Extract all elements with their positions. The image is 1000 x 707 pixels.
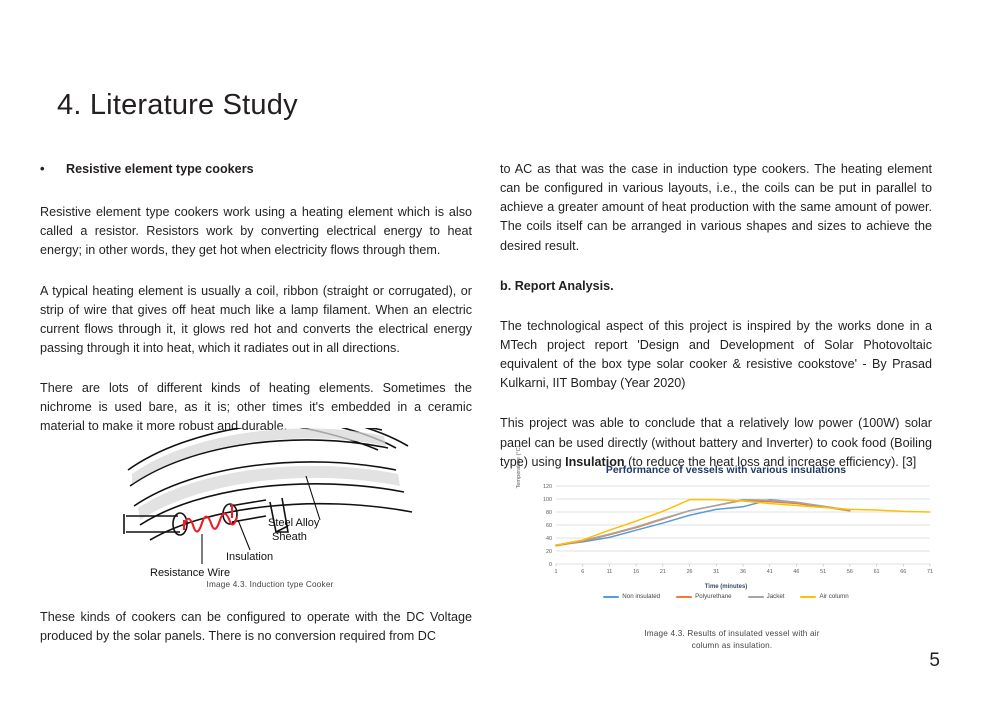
chart-title: Performance of vessels with various insu…: [512, 465, 940, 476]
svg-text:66: 66: [900, 569, 906, 575]
right-paragraph-1: to AC as that was the case in induction …: [500, 160, 932, 256]
right-paragraph-2: The technological aspect of this project…: [500, 317, 932, 394]
document-page: 4. Literature Study • Resistive element …: [0, 0, 1000, 707]
svg-text:71: 71: [927, 569, 933, 575]
resistance-wire-coil: [184, 504, 237, 532]
chart-caption-line1: Image 4.3. Results of insulated vessel w…: [572, 628, 892, 640]
legend-item-air-column: Air column: [800, 593, 848, 600]
page-title: 4. Literature Study: [57, 89, 298, 122]
svg-text:6: 6: [581, 569, 584, 575]
svg-text:26: 26: [687, 569, 693, 575]
legend-item-jacket: Jacket: [748, 593, 785, 600]
right-column: to AC as that was the case in induction …: [500, 160, 932, 472]
label-insulation: Insulation: [226, 551, 273, 563]
induction-cooker-diagram: Steel Alloy Sheath Insulation Resistance…: [120, 428, 420, 603]
label-steel-alloy-sheath-line1: Steel Alloy: [268, 517, 320, 529]
left-paragraph-4: These kinds of cookers can be configured…: [40, 608, 472, 646]
legend-label: Polyurethane: [695, 593, 731, 600]
svg-text:40: 40: [546, 536, 552, 542]
legend-label: Air column: [819, 593, 848, 600]
legend-swatch-icon: [676, 596, 692, 598]
svg-text:36: 36: [740, 569, 746, 575]
legend-swatch-icon: [603, 596, 619, 598]
legend-label: Jacket: [767, 593, 785, 600]
bullet-point-icon: •: [40, 162, 66, 175]
svg-text:60: 60: [546, 523, 552, 529]
svg-text:80: 80: [546, 510, 552, 516]
chart-x-axis-label: Time (minutes): [512, 584, 940, 590]
bullet-heading-row: • Resistive element type cookers: [40, 160, 472, 179]
left-paragraph-1: Resistive element type cookers work usin…: [40, 203, 472, 260]
chart-plot-area: Temperature (°C) 02040608010012016111621…: [512, 480, 940, 590]
svg-text:56: 56: [847, 569, 853, 575]
svg-text:20: 20: [546, 549, 552, 555]
page-number: 5: [929, 650, 940, 672]
svg-text:0: 0: [549, 562, 552, 568]
chart-figure-caption: Image 4.3. Results of insulated vessel w…: [572, 628, 892, 653]
svg-text:61: 61: [874, 569, 880, 575]
chart-legend: Non insulatedPolyurethaneJacketAir colum…: [512, 593, 940, 600]
svg-text:21: 21: [660, 569, 666, 575]
svg-text:100: 100: [543, 497, 552, 503]
insulation-performance-chart: Performance of vessels with various insu…: [512, 462, 940, 622]
left-column-bottom: These kinds of cookers can be configured…: [40, 608, 472, 646]
svg-text:120: 120: [543, 484, 552, 490]
legend-swatch-icon: [748, 596, 764, 598]
legend-item-non-insulated: Non insulated: [603, 593, 660, 600]
legend-item-polyurethane: Polyurethane: [676, 593, 731, 600]
cooker-illustration-svg: Steel Alloy Sheath Insulation Resistance…: [120, 428, 420, 603]
left-paragraph-2: A typical heating element is usually a c…: [40, 282, 472, 359]
svg-text:16: 16: [633, 569, 639, 575]
right-sub-heading: b. Report Analysis.: [500, 277, 932, 296]
svg-text:11: 11: [607, 569, 613, 575]
left-column: • Resistive element type cookers Resisti…: [40, 160, 472, 437]
label-steel-alloy-sheath-line2: Sheath: [272, 531, 307, 543]
svg-text:51: 51: [820, 569, 826, 575]
chart-canvas: 0204060801001201611162126313641465156616…: [512, 480, 940, 584]
svg-text:41: 41: [767, 569, 773, 575]
label-resistance-wire: Resistance Wire: [150, 567, 230, 579]
legend-label: Non insulated: [622, 593, 660, 600]
legend-swatch-icon: [800, 596, 816, 598]
svg-text:31: 31: [713, 569, 719, 575]
cooker-figure-caption: Image 4.3. Induction type Cooker: [120, 580, 420, 589]
bullet-heading-text: Resistive element type cookers: [66, 160, 254, 179]
svg-text:1: 1: [555, 569, 558, 575]
chart-caption-line2: column as insulation.: [572, 640, 892, 652]
svg-text:46: 46: [793, 569, 799, 575]
